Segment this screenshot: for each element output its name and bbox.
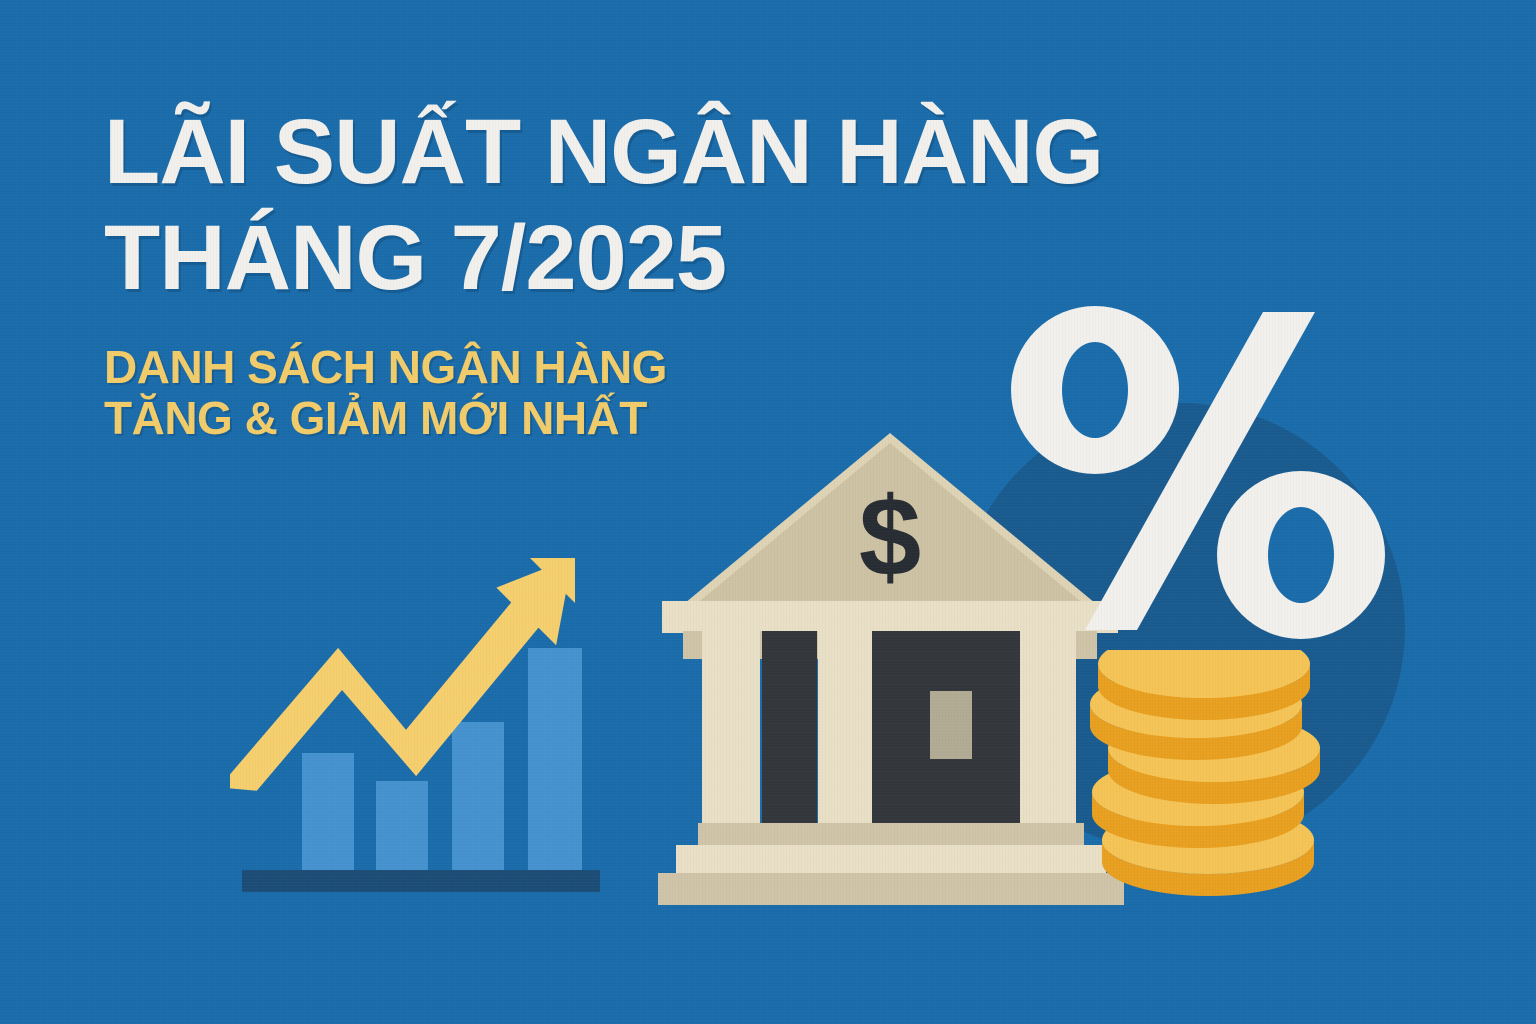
bank-column-2 — [818, 631, 872, 827]
subhead-line-1: DANH SÁCH NGÂN HÀNG — [104, 343, 1103, 393]
chart-baseline — [242, 870, 600, 892]
subhead-line-2: TĂNG & GIẢM MỚI NHẤT — [104, 394, 1103, 444]
headline-line-1: LÃI SUẤT NGÂN HÀNG — [104, 108, 1103, 196]
bar-3 — [452, 722, 504, 870]
bar-chart-with-trend-arrow — [230, 540, 630, 900]
bank-recess-left — [762, 631, 817, 827]
text-block: LÃI SUẤT NGÂN HÀNG THÁNG 7/2025 DANH SÁC… — [104, 108, 1103, 444]
upward-trend-arrow-icon — [232, 558, 575, 784]
headline-line-2: THÁNG 7/2025 — [104, 214, 1103, 302]
bank-column-3 — [1020, 631, 1076, 827]
bank-column-1 — [702, 631, 760, 827]
coin-1 — [1098, 650, 1310, 720]
poster-canvas: LÃI SUẤT NGÂN HÀNG THÁNG 7/2025 DANH SÁC… — [0, 0, 1536, 1024]
bar-4 — [528, 648, 582, 870]
bar-2 — [376, 781, 428, 870]
bank-door-panel — [930, 691, 972, 759]
coin-stack-icon — [1090, 650, 1340, 915]
dollar-sign-icon: $ — [859, 474, 921, 599]
bank-step-lower — [658, 873, 1124, 905]
bar-1 — [302, 753, 354, 870]
